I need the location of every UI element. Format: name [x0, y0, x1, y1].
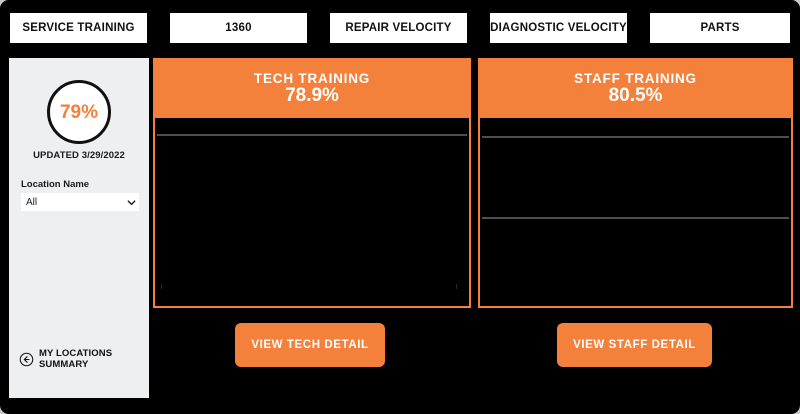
tech-training-panel: TECH TRAINING 78.9%	[153, 58, 471, 308]
my-locations-summary-link[interactable]: MY LOCATIONS SUMMARY	[19, 348, 149, 370]
chart-axis-tick	[456, 284, 457, 289]
overall-score-gauge-wrap: 79%	[9, 80, 149, 144]
dashboard-window: SERVICE TRAINING 1360 REPAIR VELOCITY DI…	[0, 0, 800, 414]
tab-label: DIAGNOSTIC VELOCITY	[490, 22, 627, 34]
view-staff-detail-button[interactable]: VIEW STAFF DETAIL	[557, 323, 712, 367]
chart-axis-tick	[161, 284, 162, 289]
tech-training-title: TECH TRAINING	[254, 72, 370, 87]
staff-training-header: STAFF TRAINING 80.5%	[480, 60, 791, 118]
overall-score-value: 79%	[60, 103, 98, 122]
view-staff-detail-label: VIEW STAFF DETAIL	[573, 339, 696, 351]
tech-training-header: TECH TRAINING 78.9%	[155, 60, 469, 118]
circle-arrow-left-icon	[19, 352, 34, 367]
staff-training-title: STAFF TRAINING	[574, 72, 697, 87]
tab-1360[interactable]: 1360	[170, 13, 307, 43]
chart-gridline	[157, 134, 467, 136]
location-filter-label: Location Name	[21, 179, 89, 190]
staff-training-value: 80.5%	[609, 86, 663, 106]
view-tech-detail-label: VIEW TECH DETAIL	[251, 339, 368, 351]
tab-parts[interactable]: PARTS	[650, 13, 790, 43]
staff-training-panel: STAFF TRAINING 80.5%	[478, 58, 793, 308]
tab-bar: SERVICE TRAINING 1360 REPAIR VELOCITY DI…	[0, 0, 800, 52]
tab-label: REPAIR VELOCITY	[345, 22, 451, 34]
tech-training-value: 78.9%	[285, 86, 339, 106]
tab-label: PARTS	[700, 22, 739, 34]
updated-timestamp: UPDATED 3/29/2022	[9, 150, 149, 161]
overall-score-gauge: 79%	[47, 80, 111, 144]
my-locations-summary-label: MY LOCATIONS SUMMARY	[39, 348, 149, 370]
tab-diagnostic-velocity[interactable]: DIAGNOSTIC VELOCITY	[490, 13, 627, 43]
location-name-select[interactable]: All	[21, 193, 139, 211]
staff-training-chart	[480, 118, 791, 306]
view-tech-detail-button[interactable]: VIEW TECH DETAIL	[235, 323, 385, 367]
location-name-select-value: All	[21, 197, 123, 208]
chart-gridline	[482, 136, 789, 138]
tech-training-chart	[155, 118, 469, 306]
chart-gridline	[482, 217, 789, 219]
tab-repair-velocity[interactable]: REPAIR VELOCITY	[330, 13, 467, 43]
sidebar: 79% UPDATED 3/29/2022 Location Name All …	[9, 58, 149, 398]
tab-label: SERVICE TRAINING	[22, 22, 134, 34]
chevron-down-icon	[123, 193, 139, 211]
tab-label: 1360	[225, 22, 251, 34]
tab-service-training[interactable]: SERVICE TRAINING	[10, 13, 147, 43]
